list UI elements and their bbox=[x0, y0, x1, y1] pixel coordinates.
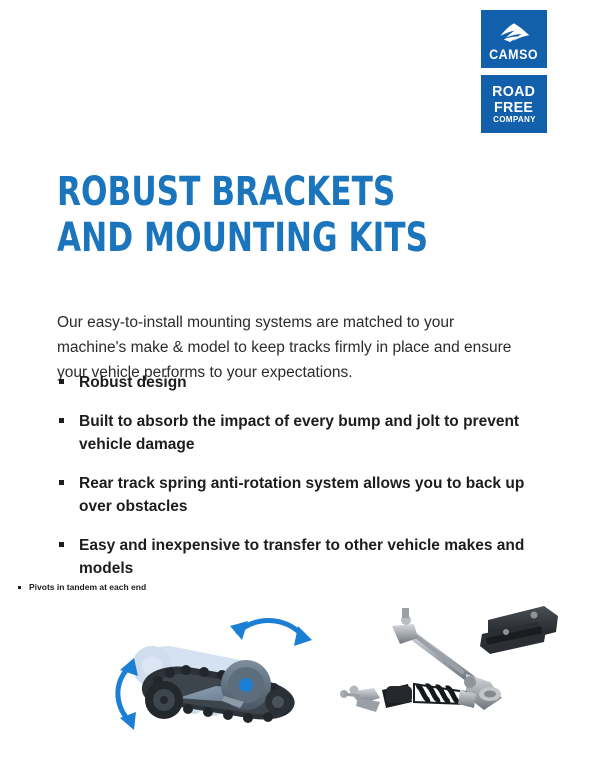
camso-logo: CAMSO bbox=[481, 10, 547, 68]
logo-stack: CAMSO ROAD FREE COMPANY bbox=[481, 10, 547, 133]
rotation-arrow-left bbox=[118, 658, 138, 730]
camso-wordmark: CAMSO bbox=[490, 48, 539, 62]
square-bullet-icon bbox=[59, 379, 64, 384]
track-system-graphic bbox=[112, 606, 322, 736]
list-item: Rear track spring anti-rotation system a… bbox=[57, 472, 527, 518]
camso-swoosh-icon bbox=[497, 22, 531, 44]
footnote: Pivots in tandem at each end bbox=[18, 582, 146, 593]
page-title: ROBUST BRACKETS AND MOUNTING KITS bbox=[57, 169, 424, 261]
list-item: Easy and inexpensive to transfer to othe… bbox=[57, 534, 527, 580]
road-free-line-3: COMPANY bbox=[493, 115, 536, 124]
hardware-graphic bbox=[330, 598, 565, 728]
mounting-hardware-photo bbox=[330, 598, 565, 728]
bogie-wheels bbox=[265, 689, 291, 715]
road-free-company-logo: ROAD FREE COMPANY bbox=[481, 75, 547, 133]
list-item: Robust design bbox=[57, 371, 527, 394]
page-title-line-1: ROBUST BRACKETS bbox=[57, 169, 424, 215]
feature-list: Robust design Built to absorb the impact… bbox=[57, 371, 527, 596]
page-title-line-2: AND MOUNTING KITS bbox=[57, 215, 424, 261]
footnote-text: Pivots in tandem at each end bbox=[29, 582, 146, 592]
illustration-row bbox=[0, 598, 600, 753]
feature-text: Built to absorb the impact of every bump… bbox=[79, 410, 527, 456]
feature-text: Robust design bbox=[79, 371, 527, 394]
square-bullet-icon bbox=[59, 418, 64, 423]
mounting-bracket bbox=[480, 606, 558, 654]
rotation-arrow-top bbox=[230, 621, 312, 646]
feature-text: Easy and inexpensive to transfer to othe… bbox=[79, 534, 527, 580]
spring-damper-linkage bbox=[340, 684, 476, 712]
list-item: Built to absorb the impact of every bump… bbox=[57, 410, 527, 456]
feature-text: Rear track spring anti-rotation system a… bbox=[79, 472, 527, 518]
rubber-track-system-illustration bbox=[112, 606, 322, 736]
square-bullet-icon bbox=[59, 542, 64, 547]
road-free-line-1: ROAD bbox=[492, 84, 535, 99]
square-bullet-icon bbox=[59, 480, 64, 485]
road-free-line-2: FREE bbox=[494, 100, 533, 115]
idler-wheel bbox=[145, 681, 183, 719]
square-bullet-icon bbox=[18, 586, 21, 589]
